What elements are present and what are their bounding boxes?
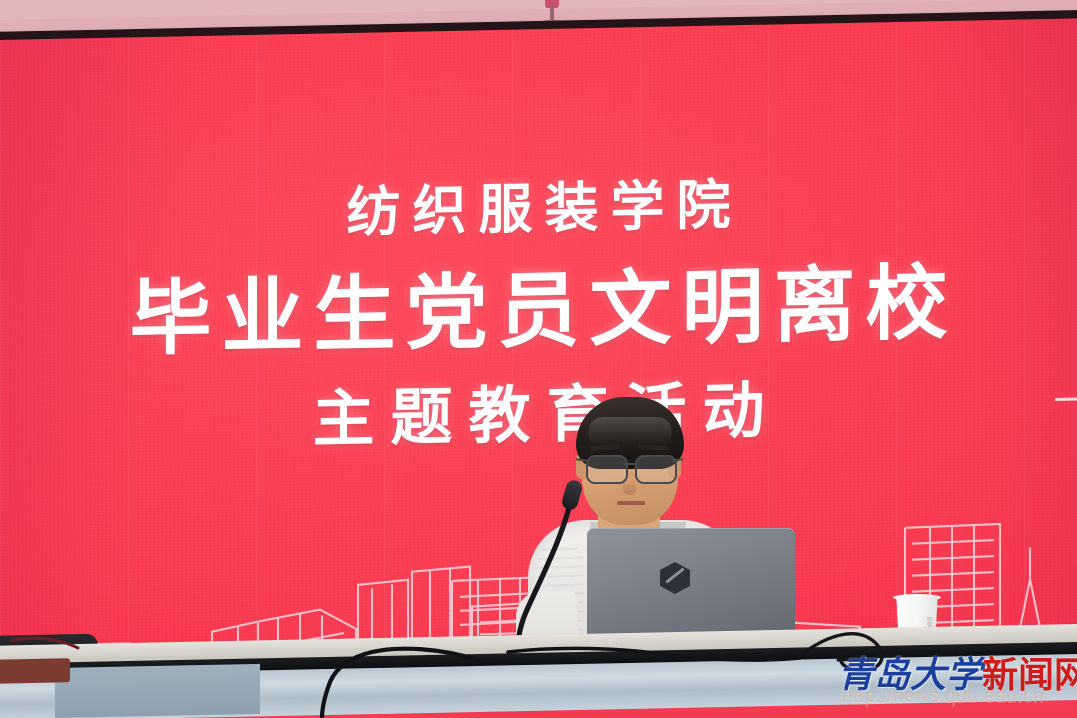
photo-scene: 纺织服装学院 毕业生党员文明离校 主题教育活动 xyxy=(0,0,1077,718)
desk-side-panel xyxy=(55,664,260,718)
glasses-lens-right xyxy=(635,455,677,484)
hexagon-logo-icon xyxy=(660,562,690,594)
nose xyxy=(623,479,636,495)
glasses-bridge xyxy=(624,463,635,465)
desk-red-block xyxy=(0,658,70,684)
mouth xyxy=(617,501,645,505)
screen-edge-marker xyxy=(1055,398,1077,401)
laptop-lid xyxy=(587,528,795,646)
